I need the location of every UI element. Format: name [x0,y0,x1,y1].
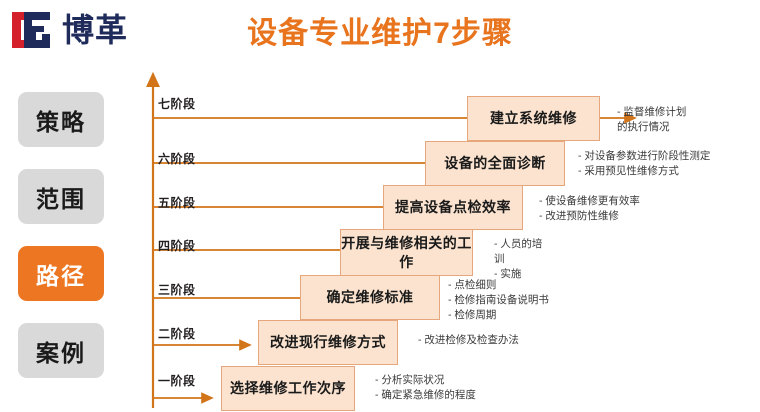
step-note-3: - 点检细则 - 检修指南设备说明书 - 检修周期 [448,278,608,323]
slide-canvas: 博革 设备专业维护7步骤 策略 范围 路径 案例 七阶段 六阶段 五阶段 四阶段… [0,0,760,412]
stage-label-3: 三阶段 [158,281,196,298]
step-box-5[interactable]: 提高设备点检效率 [383,185,523,230]
sidebar-item-anli[interactable]: 案例 [18,323,104,378]
stage-label-2: 二阶段 [158,325,196,342]
step-box-4[interactable]: 开展与维修相关的工作 [340,229,473,276]
stage-label-4: 四阶段 [158,237,196,254]
stage-label-7: 七阶段 [158,95,196,112]
step-box-2[interactable]: 改进现行维修方式 [258,320,398,365]
step-note-1: - 分析实际状况 - 确定紧急维修的程度 [375,373,515,403]
step-box-3[interactable]: 确定维修标准 [300,275,440,320]
sidebar: 策略 范围 路径 案例 [18,92,104,400]
step-note-7: - 监督维修计划 的执行情况 [617,105,747,135]
stage-label-5: 五阶段 [158,194,196,211]
stage-label-1: 一阶段 [158,372,196,389]
stage-label-6: 六阶段 [158,150,196,167]
step-note-2: - 改进检修及检查办法 [418,333,568,348]
step-box-1[interactable]: 选择维修工作次序 [221,366,355,411]
step-note-4: - 人员的培 训 - 实施 [494,237,556,282]
sidebar-item-lujing[interactable]: 路径 [18,246,104,301]
step-box-7[interactable]: 建立系统维修 [467,96,600,141]
page-title: 设备专业维护7步骤 [0,8,760,52]
step-note-6: - 对设备参数进行阶段性测定 - 采用预见性维修方式 [578,149,753,179]
step-box-6[interactable]: 设备的全面诊断 [425,141,565,186]
sidebar-item-fanwei[interactable]: 范围 [18,169,104,224]
step-note-5: - 使设备维修更有效率 - 改进预防性维修 [539,194,689,224]
sidebar-item-celue[interactable]: 策略 [18,92,104,147]
